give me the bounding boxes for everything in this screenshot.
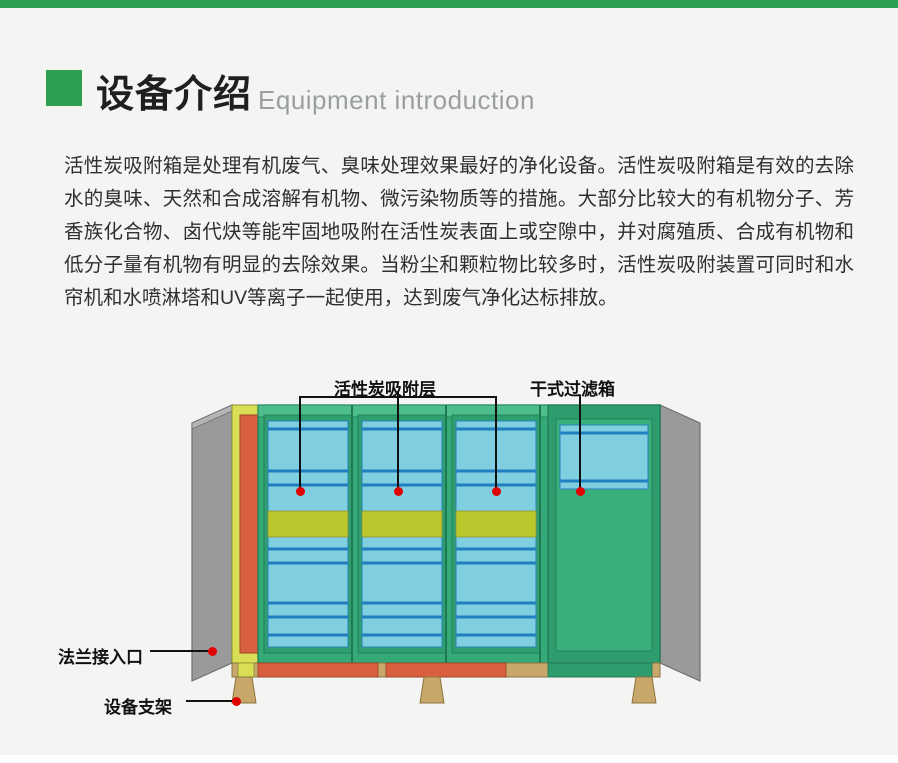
title-decoration-icon bbox=[46, 70, 82, 106]
equipment-diagram: 活性炭吸附层 干式过滤箱 法兰接入口 设备支架 bbox=[0, 363, 898, 733]
label-equipment-bracket: 设备支架 bbox=[104, 693, 172, 718]
label-adsorption-layer: 活性炭吸附层 bbox=[334, 375, 436, 400]
label-flange-inlet: 法兰接入口 bbox=[58, 643, 143, 668]
callout-dot-dry-filter bbox=[576, 487, 585, 496]
bottom-strip bbox=[0, 755, 898, 763]
callout-dot-adsorption-3 bbox=[492, 487, 501, 496]
equipment-illustration bbox=[0, 363, 898, 733]
label-dry-filter-box: 干式过滤箱 bbox=[530, 375, 615, 400]
top-accent-bar bbox=[0, 0, 898, 8]
callout-dot-adsorption-2 bbox=[394, 487, 403, 496]
callout-dot-adsorption-1 bbox=[296, 487, 305, 496]
callout-dot-flange bbox=[208, 647, 217, 656]
page-subtitle: Equipment introduction bbox=[258, 87, 535, 114]
page-title: 设备介绍 bbox=[96, 76, 252, 114]
page-body: 设备介绍 Equipment introduction 活性炭吸附箱是处理有机废… bbox=[0, 8, 898, 755]
section-header: 设备介绍 Equipment introduction bbox=[46, 70, 535, 114]
description-paragraph: 活性炭吸附箱是处理有机废气、臭味处理效果最好的净化设备。活性炭吸附箱是有效的去除… bbox=[64, 150, 854, 315]
callout-dot-bracket bbox=[232, 697, 241, 706]
